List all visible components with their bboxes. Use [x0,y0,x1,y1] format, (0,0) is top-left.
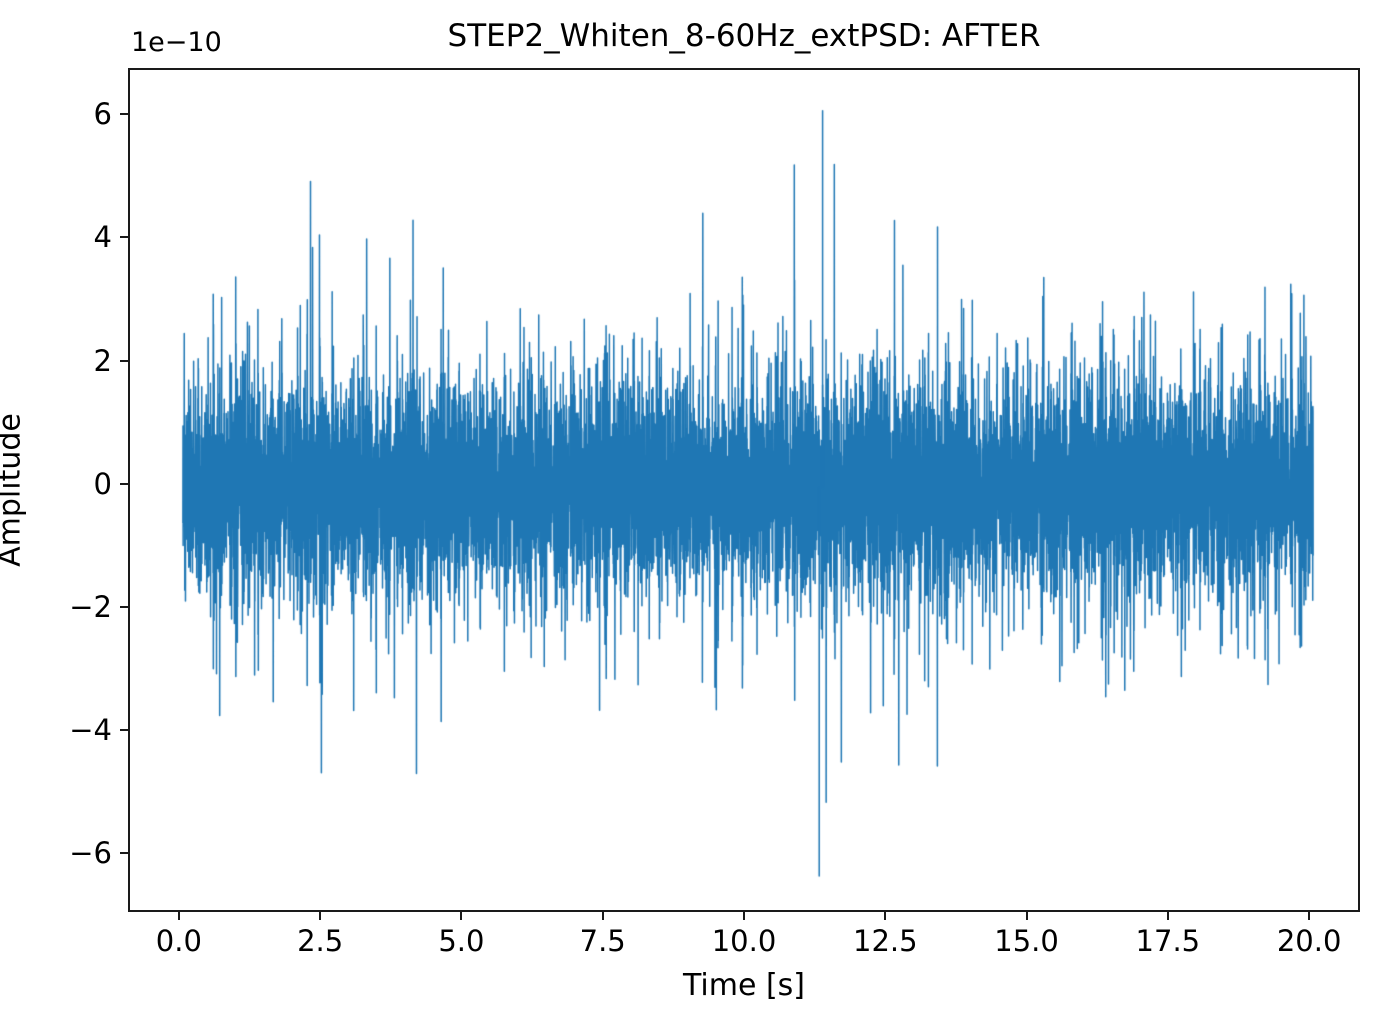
y-tick-mark [120,852,128,854]
y-tick-label: 2 [94,344,112,378]
x-tick-mark [884,912,886,920]
y-tick-label: 0 [94,467,112,501]
x-tick-label: 10.0 [712,924,777,958]
x-tick-mark [1167,912,1169,920]
page-title: STEP2_Whiten_8-60Hz_extPSD: AFTER [128,16,1360,56]
x-tick-label: 17.5 [1136,924,1201,958]
waveform-canvas [130,70,1358,910]
y-tick-mark [120,606,128,608]
y-axis-offset-label: 1e−10 [131,26,222,60]
x-tick-mark [1308,912,1310,920]
x-tick-label: 5.0 [438,924,484,958]
x-tick-mark [602,912,604,920]
x-tick-label: 15.0 [994,924,1059,958]
y-tick-mark [120,729,128,731]
x-tick-label: 2.5 [297,924,343,958]
y-tick-label: −6 [69,836,112,870]
x-tick-mark [319,912,321,920]
x-tick-label: 12.5 [853,924,918,958]
x-tick-label: 20.0 [1277,924,1342,958]
x-tick-mark [178,912,180,920]
x-tick-label: 7.5 [580,924,626,958]
x-tick-mark [743,912,745,920]
y-tick-mark [120,236,128,238]
x-axis-label: Time [s] [128,968,1360,1003]
plot-area [128,68,1360,912]
y-tick-mark [120,113,128,115]
y-tick-label: 6 [94,97,112,131]
matplotlib-figure: STEP2_Whiten_8-60Hz_extPSD: AFTER 1e−10 … [0,0,1383,1028]
y-axis-label: Amplitude [0,413,28,567]
y-tick-label: −2 [69,590,112,624]
y-tick-label: 4 [94,220,112,254]
x-tick-mark [460,912,462,920]
y-tick-label: −4 [69,713,112,747]
x-tick-label: 0.0 [156,924,202,958]
y-tick-mark [120,483,128,485]
y-tick-mark [120,360,128,362]
x-tick-mark [1026,912,1028,920]
